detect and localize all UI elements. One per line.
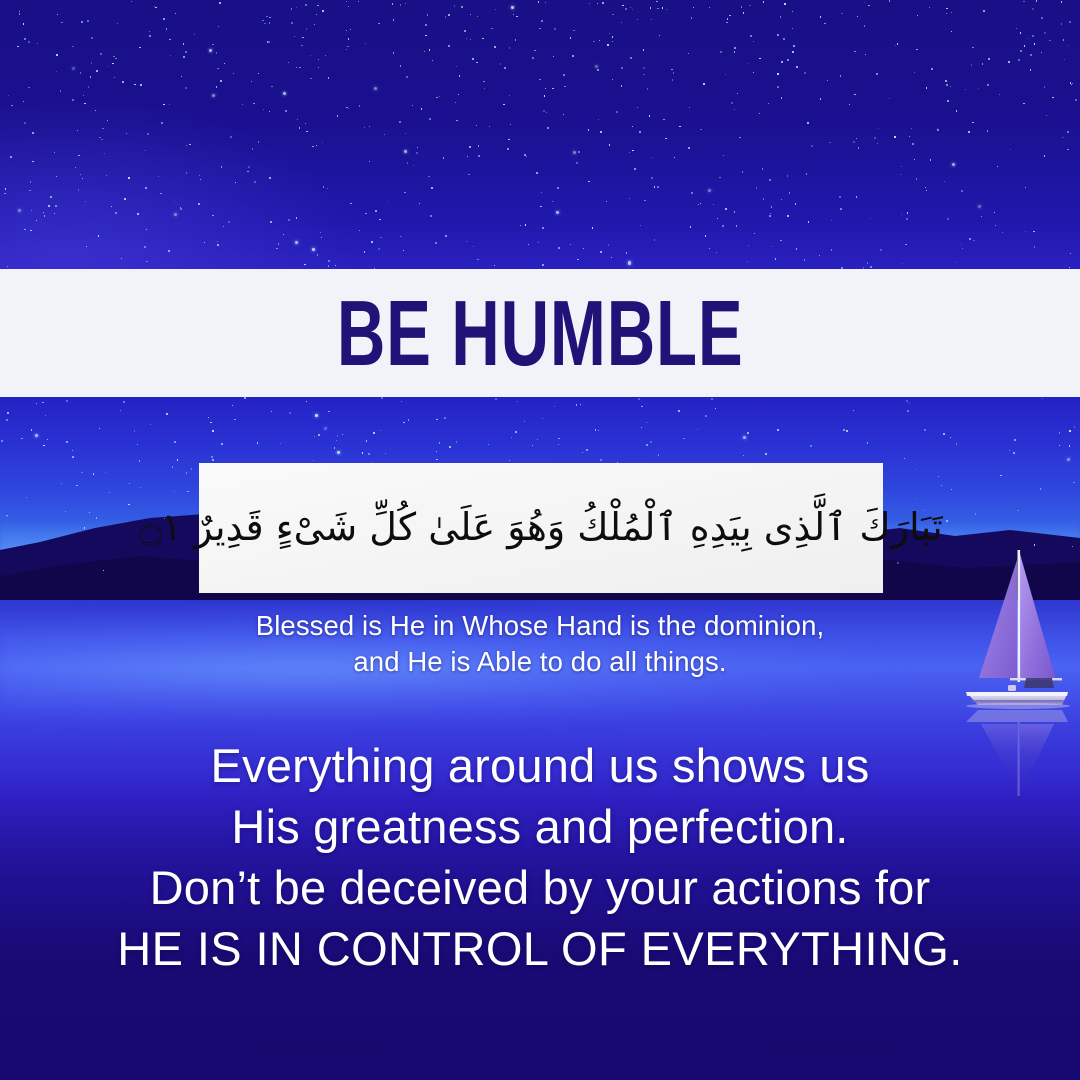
ayah-card: تَبَارَكَ ٱلَّذِى بِيَدِهِ ٱلْمُلْكُ وَه… [199,463,883,593]
message-line-1: Everything around us shows us [0,735,1080,796]
ayah-arabic-text: تَبَارَكَ ٱلَّذِى بِيَدِهِ ٱلْمُلْكُ وَه… [139,502,942,553]
translation-line-1: Blessed is He in Whose Hand is the domin… [0,608,1080,644]
title-banner: BE HUMBLE [0,269,1080,397]
page-title: BE HUMBLE [337,287,744,379]
poster-canvas: BE HUMBLE تَبَارَكَ ٱلَّذِى بِيَدِهِ ٱلْ… [0,0,1080,1080]
message-line-4: HE IS IN CONTROL OF EVERYTHING. [0,918,1080,979]
ayah-translation: Blessed is He in Whose Hand is the domin… [0,608,1080,680]
message-line-3: Don’t be deceived by your actions for [0,857,1080,918]
message-line-2: His greatness and perfection. [0,796,1080,857]
message-block: Everything around us shows us His greatn… [0,735,1080,979]
translation-line-2: and He is Able to do all things. [0,644,1080,680]
